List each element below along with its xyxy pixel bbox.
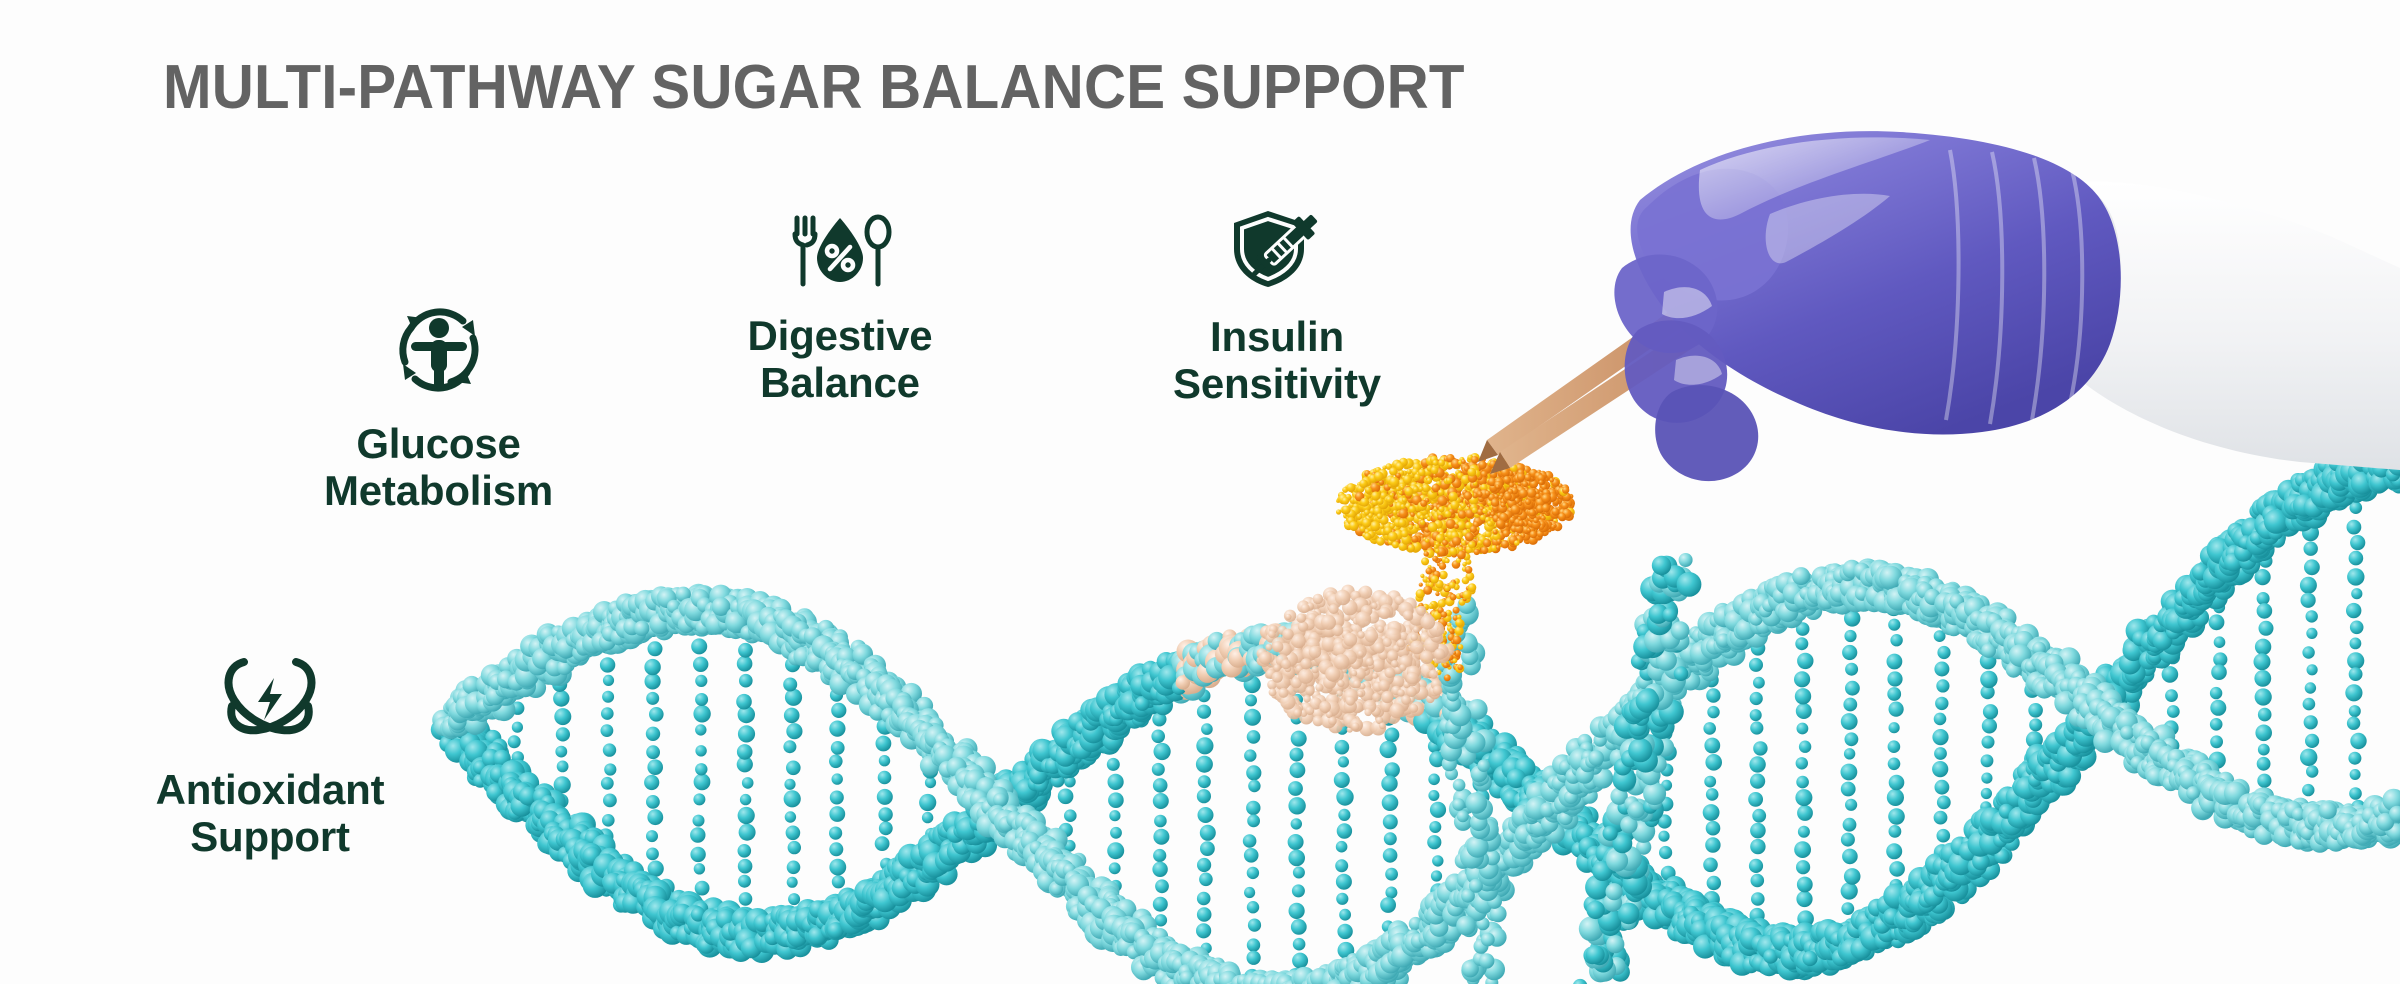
feature-glucose-metabolism: Glucose Metabolism <box>256 298 621 514</box>
page-title: MULTI-PATHWAY SUGAR BALANCE SUPPORT <box>163 57 1465 119</box>
feature-insulin-sensitivity: Insulin Sensitivity <box>1082 203 1472 407</box>
lab-coat-sleeve <box>2078 182 2400 470</box>
metal-tool-tip <box>1828 140 1892 168</box>
glucose-metabolism-icon <box>387 298 491 402</box>
insulin-sensitivity-icon <box>1228 203 1326 291</box>
gloved-hand-with-lab-coat <box>1614 131 2400 481</box>
orange-granule-cluster <box>1257 453 1576 736</box>
nitrile-glove <box>1631 131 2121 434</box>
feature-digestive-balance: Digestive Balance <box>650 212 1030 406</box>
feature-label: Insulin Sensitivity <box>1173 313 1381 407</box>
dna-double-helix <box>431 442 2400 984</box>
laboratory-tweezers <box>1478 145 1953 474</box>
feature-label: Antioxidant Support <box>156 766 385 860</box>
feature-antioxidant-support: Antioxidant Support <box>80 648 460 860</box>
feature-label: Glucose Metabolism <box>324 420 553 514</box>
digestive-balance-icon <box>785 212 895 290</box>
feature-label: Digestive Balance <box>748 312 933 406</box>
antioxidant-support-icon <box>220 648 320 744</box>
sugar-balance-banner: MULTI-PATHWAY SUGAR BALANCE SUPPORT <box>0 0 2400 984</box>
